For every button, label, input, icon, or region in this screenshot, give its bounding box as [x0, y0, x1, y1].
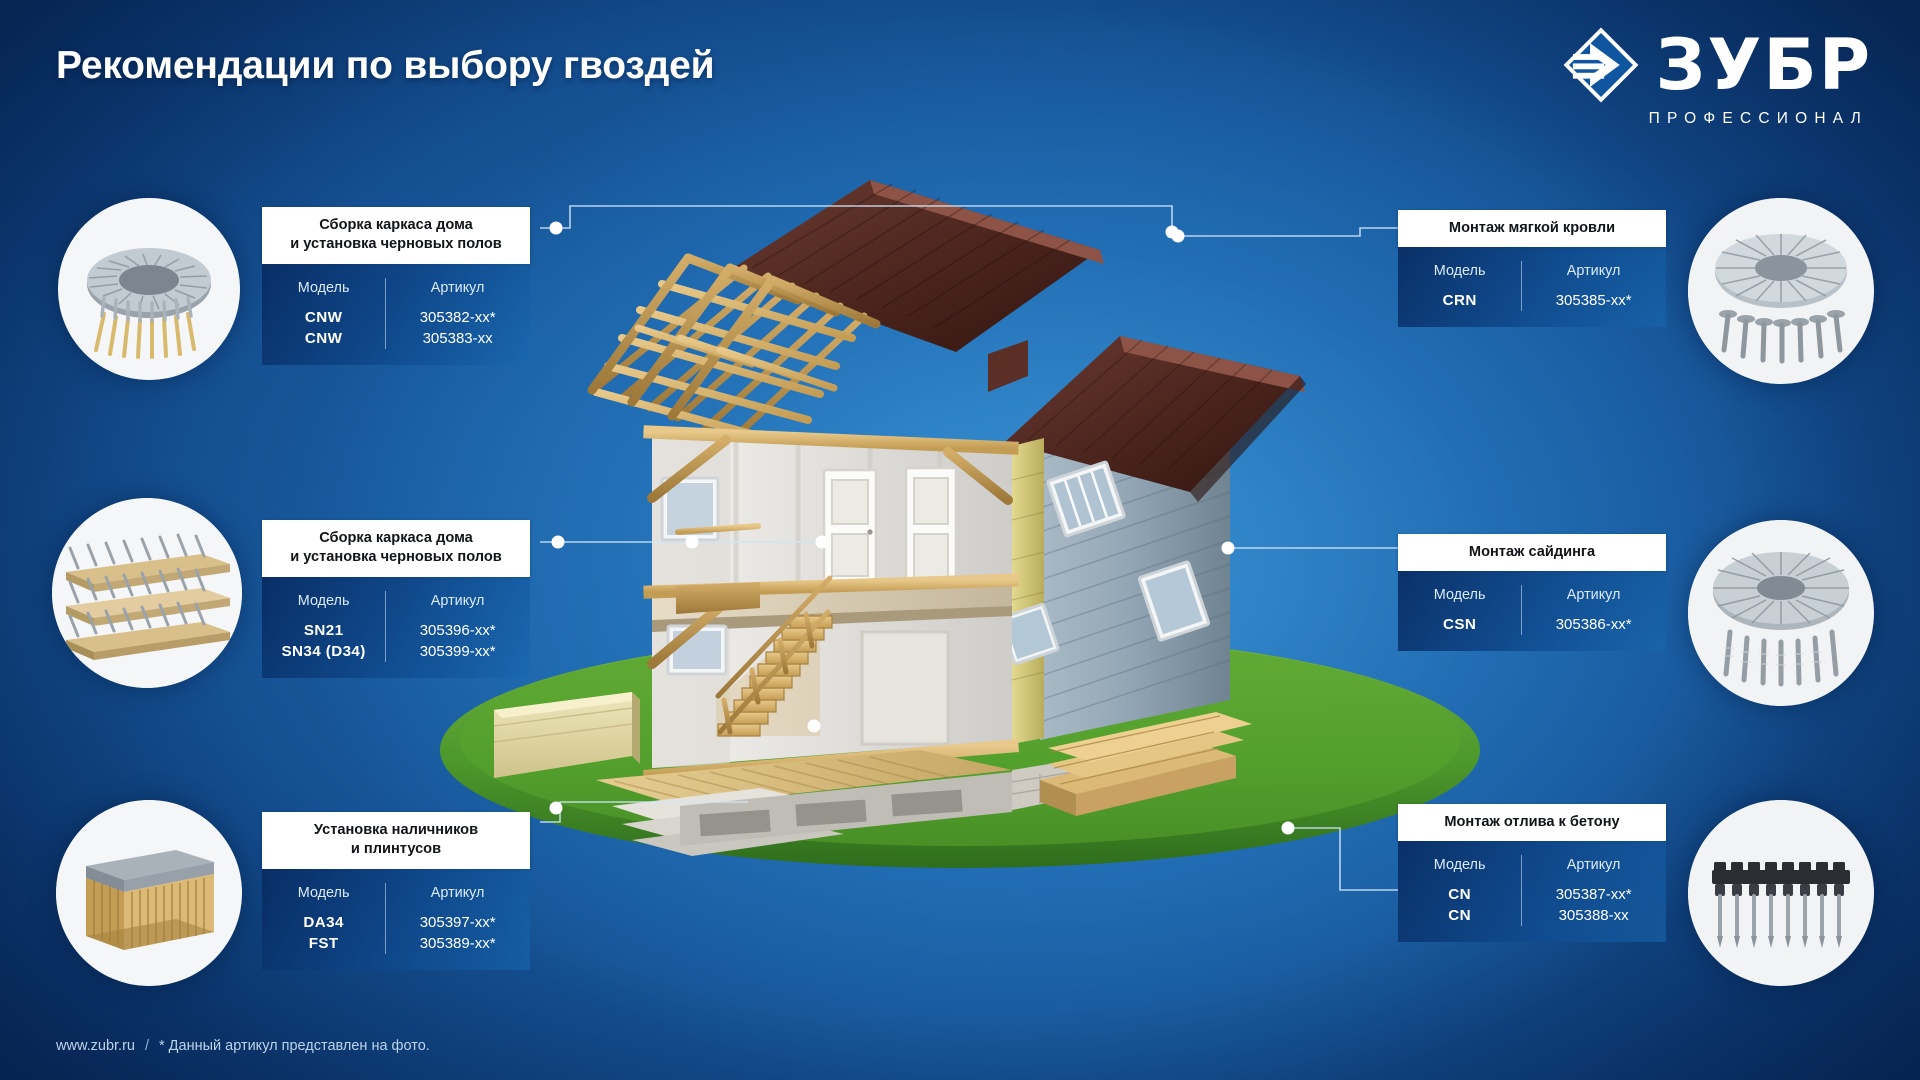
- card-title-line1: Сборка каркаса дома: [270, 529, 522, 548]
- table-row: SN34 (D34) 305399-xx*: [262, 641, 530, 662]
- column-divider: [385, 278, 386, 349]
- card-body: Модель Артикул DA34 305397-xx* FST 30538…: [262, 869, 530, 970]
- cell-model: FST: [262, 933, 385, 954]
- cell-article: 305389-xx*: [385, 933, 530, 954]
- table-header-row: Модель Артикул: [1398, 584, 1666, 614]
- card-trim-and-skirting[interactable]: Установка наличников и плинтусов Модель …: [262, 812, 530, 970]
- column-divider: [1521, 261, 1522, 311]
- cell-model: DA34: [262, 912, 385, 933]
- cell-model: CSN: [1398, 614, 1521, 635]
- card-siding-mounting[interactable]: Монтаж сайдинга Модель Артикул CSN 30538…: [1398, 534, 1666, 651]
- card-body: Модель Артикул CRN 305385-xx*: [1398, 247, 1666, 327]
- cell-model: SN34 (D34): [262, 641, 385, 662]
- table-row: CNW 305382-xx*: [262, 307, 530, 328]
- footer: www.zubr.ru / * Данный артикул представл…: [56, 1038, 430, 1054]
- brad-nails-strip-icon: [56, 800, 242, 986]
- col-header-model: Модель: [1398, 260, 1521, 290]
- card-title: Сборка каркаса дома и установка черновых…: [262, 520, 530, 577]
- roofing-coil-nails-icon: [1688, 198, 1874, 384]
- card-title-line2: и установка черновых полов: [270, 235, 522, 254]
- bubble-strip-nails: [52, 498, 242, 688]
- table-row: FST 305389-xx*: [262, 933, 530, 954]
- col-header-article: Артикул: [385, 590, 530, 620]
- col-header-model: Модель: [1398, 854, 1521, 884]
- cell-article: 305397-xx*: [385, 912, 530, 933]
- specs-table: Модель Артикул CNW 305382-xx* CNW 305383…: [262, 277, 530, 349]
- concrete-pins-strip-icon: [1688, 800, 1874, 986]
- footer-website[interactable]: www.zubr.ru: [56, 1038, 135, 1054]
- table-row: CRN 305385-xx*: [1398, 290, 1666, 311]
- card-drip-cap-to-concrete[interactable]: Монтаж отлива к бетону Модель Артикул CN…: [1398, 804, 1666, 942]
- col-header-article: Артикул: [1521, 584, 1666, 614]
- card-title: Монтаж мягкой кровли: [1398, 210, 1666, 247]
- specs-table: Модель Артикул CN 305387-xx* CN 305388-x…: [1398, 854, 1666, 926]
- footer-note: * Данный артикул представлен на фото.: [159, 1038, 430, 1054]
- table-header-row: Модель Артикул: [262, 882, 530, 912]
- cell-article: 305387-xx*: [1521, 884, 1666, 905]
- bubble-siding-coil-nails: [1688, 520, 1874, 706]
- card-frame-assembly-sn[interactable]: Сборка каркаса дома и установка черновых…: [262, 520, 530, 678]
- cell-article: 305396-xx*: [385, 620, 530, 641]
- table-header-row: Модель Артикул: [262, 590, 530, 620]
- table-header-row: Модель Артикул: [1398, 854, 1666, 884]
- card-frame-assembly-cnw[interactable]: Сборка каркаса дома и установка черновых…: [262, 207, 530, 365]
- cell-article: 305385-xx*: [1521, 290, 1666, 311]
- footer-separator: /: [145, 1038, 149, 1054]
- card-title: Монтаж отлива к бетону: [1398, 804, 1666, 841]
- card-title: Установка наличников и плинтусов: [262, 812, 530, 869]
- table-row: CN 305387-xx*: [1398, 884, 1666, 905]
- cell-article: 305383-xx: [385, 328, 530, 349]
- column-divider: [1521, 585, 1522, 635]
- bubble-brad-nails-strip: [56, 800, 242, 986]
- col-header-model: Модель: [262, 590, 385, 620]
- cell-model: CNW: [262, 328, 385, 349]
- table-header-row: Модель Артикул: [262, 277, 530, 307]
- table-row: CN 305388-xx: [1398, 905, 1666, 926]
- siding-coil-nails-icon: [1688, 520, 1874, 706]
- column-divider: [385, 883, 386, 954]
- card-title-line2: и плинтусов: [270, 840, 522, 859]
- cell-article: 305399-xx*: [385, 641, 530, 662]
- specs-table: Модель Артикул DA34 305397-xx* FST 30538…: [262, 882, 530, 954]
- cell-model: CN: [1398, 905, 1521, 926]
- card-title-line1: Монтаж сайдинга: [1406, 543, 1658, 562]
- col-header-model: Модель: [1398, 584, 1521, 614]
- card-title-line1: Сборка каркаса дома: [270, 216, 522, 235]
- card-title: Монтаж сайдинга: [1398, 534, 1666, 571]
- col-header-model: Модель: [262, 277, 385, 307]
- card-title-line1: Установка наличников: [270, 821, 522, 840]
- coil-nails-ring-icon: [58, 198, 240, 380]
- table-row: CNW 305383-xx: [262, 328, 530, 349]
- card-title: Сборка каркаса дома и установка черновых…: [262, 207, 530, 264]
- card-title-line1: Монтаж отлива к бетону: [1406, 813, 1658, 832]
- card-body: Модель Артикул SN21 305396-xx* SN34 (D34…: [262, 577, 530, 678]
- cell-model: SN21: [262, 620, 385, 641]
- table-row: DA34 305397-xx*: [262, 912, 530, 933]
- table-header-row: Модель Артикул: [1398, 260, 1666, 290]
- specs-table: Модель Артикул CRN 305385-xx*: [1398, 260, 1666, 311]
- column-divider: [1521, 855, 1522, 926]
- page-title: Рекомендации по выбору гвоздей: [56, 44, 714, 88]
- card-body: Модель Артикул CNW 305382-xx* CNW 305383…: [262, 264, 530, 365]
- brand-logo: ЗУБР ПРОФЕССИОНАЛ: [1562, 26, 1872, 128]
- card-body: Модель Артикул CN 305387-xx* CN 305388-x…: [1398, 841, 1666, 942]
- bubble-coil-nails-ring: [58, 198, 240, 380]
- card-title-line2: и установка черновых полов: [270, 548, 522, 567]
- column-divider: [385, 591, 386, 662]
- specs-table: Модель Артикул SN21 305396-xx* SN34 (D34…: [262, 590, 530, 662]
- cell-model: CNW: [262, 307, 385, 328]
- col-header-article: Артикул: [1521, 260, 1666, 290]
- table-row: CSN 305386-xx*: [1398, 614, 1666, 635]
- col-header-article: Артикул: [385, 882, 530, 912]
- logo-wordmark: ЗУБР: [1656, 33, 1872, 97]
- cell-article: 305382-xx*: [385, 307, 530, 328]
- card-body: Модель Артикул CSN 305386-xx*: [1398, 571, 1666, 651]
- table-row: SN21 305396-xx*: [262, 620, 530, 641]
- strip-nails-icon: [52, 498, 242, 688]
- bubble-concrete-pins-strip: [1688, 800, 1874, 986]
- col-header-article: Артикул: [1521, 854, 1666, 884]
- col-header-model: Модель: [262, 882, 385, 912]
- specs-table: Модель Артикул CSN 305386-xx*: [1398, 584, 1666, 635]
- infographic-canvas: Рекомендации по выбору гвоздей ЗУБР ПРОФ…: [0, 0, 1920, 1080]
- card-title-line1: Монтаж мягкой кровли: [1406, 219, 1658, 238]
- col-header-article: Артикул: [385, 277, 530, 307]
- zubr-rhombus-icon: [1562, 26, 1640, 104]
- cell-article: 305386-xx*: [1521, 614, 1666, 635]
- cell-model: CRN: [1398, 290, 1521, 311]
- bubble-roofing-coil-nails: [1688, 198, 1874, 384]
- cutaway-house-illustration: [400, 140, 1520, 900]
- cell-model: CN: [1398, 884, 1521, 905]
- cell-article: 305388-xx: [1521, 905, 1666, 926]
- logo-tagline: ПРОФЕССИОНАЛ: [1649, 110, 1868, 128]
- card-soft-roof-mounting[interactable]: Монтаж мягкой кровли Модель Артикул CRN …: [1398, 210, 1666, 327]
